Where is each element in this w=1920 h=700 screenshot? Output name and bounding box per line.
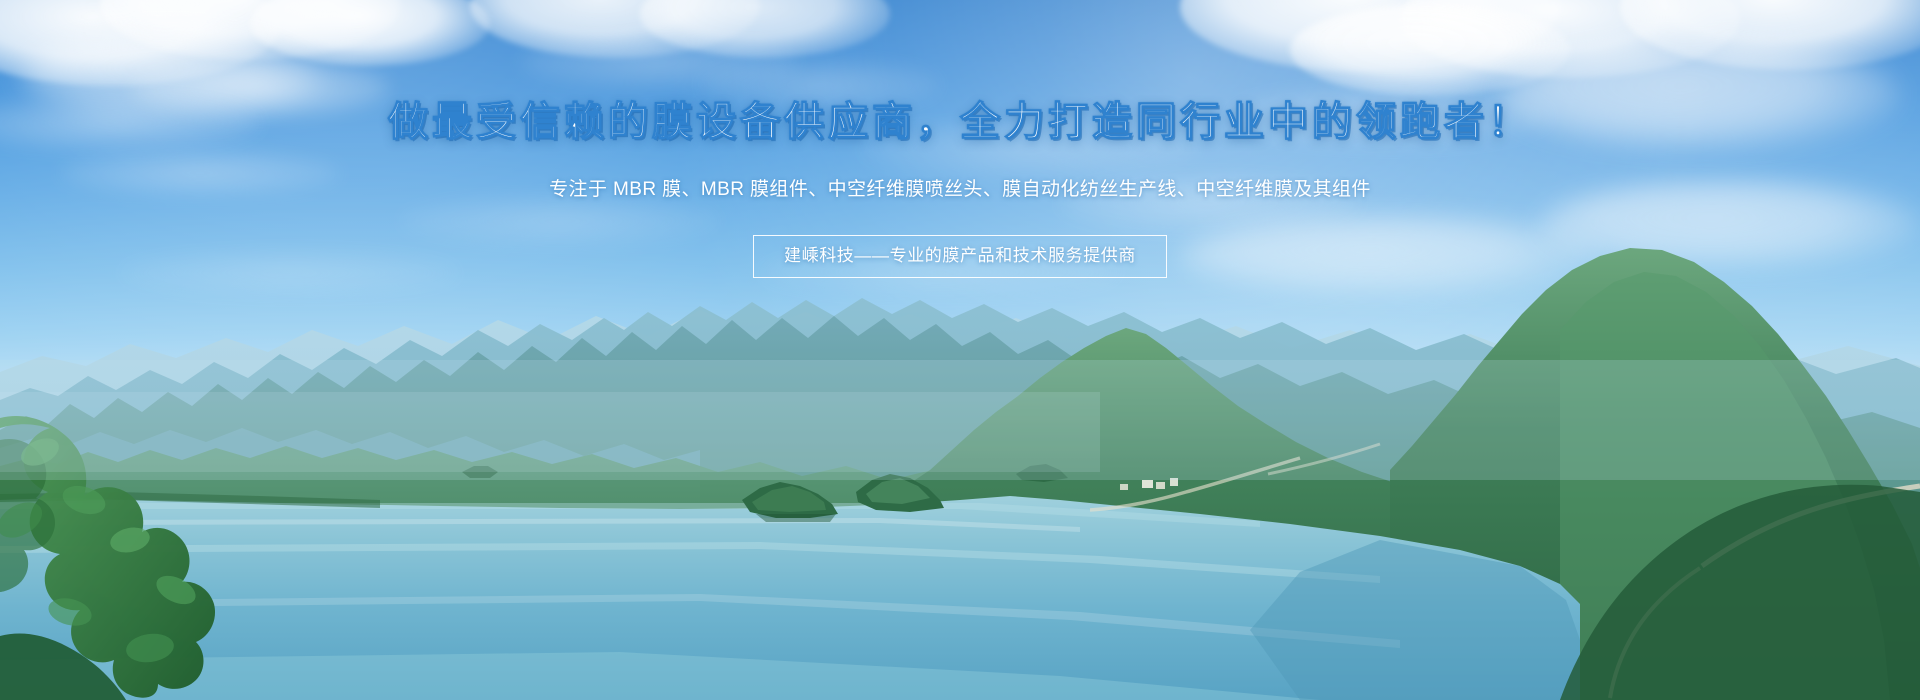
banner-tagline-box[interactable]: 建嵊科技——专业的膜产品和技术服务提供商 xyxy=(753,235,1167,278)
hero-banner: 做最受信赖的膜设备供应商，全力打造同行业中的领跑者！ 专注于 MBR 膜、MBR… xyxy=(0,0,1920,700)
landscape-layers xyxy=(0,0,1920,700)
banner-tagline: 建嵊科技——专业的膜产品和技术服务提供商 xyxy=(784,246,1136,265)
